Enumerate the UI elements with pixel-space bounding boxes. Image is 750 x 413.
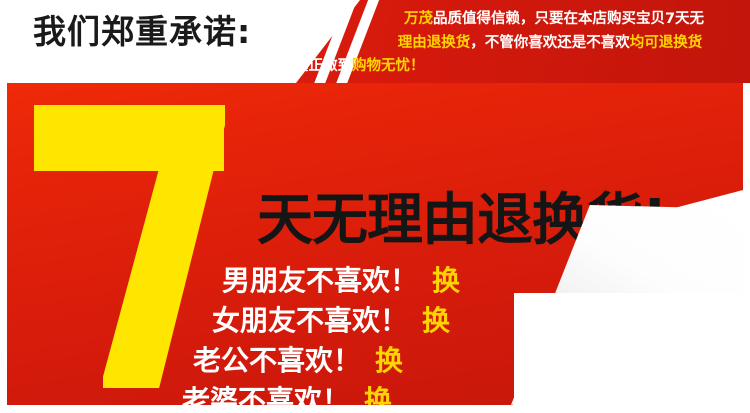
- blurb-line-3-text: 真正做到: [294, 58, 352, 74]
- blurb-line-2: 理由退换货，不管你喜欢还是不喜欢均可退换货: [356, 32, 744, 56]
- banner-header: 我们郑重承诺: 万茂品质值得信赖，只要在本店购买宝贝7天无 理由退换货，不管你喜…: [0, 0, 750, 83]
- page-curl-base: [514, 293, 750, 413]
- reason-text: 女朋友不喜欢！: [212, 304, 408, 337]
- promise-blurb: 万茂品质值得信赖，只要在本店购买宝贝7天无 理由退换货，不管你喜欢还是不喜欢均可…: [364, 8, 744, 79]
- reason-text: 男朋友不喜欢！: [222, 264, 418, 297]
- reason-text: 老婆不喜欢！: [182, 384, 350, 405]
- reason-action: 换: [364, 384, 392, 405]
- brand-name: 万茂: [404, 11, 433, 27]
- blurb-line-2-text: ，不管你喜欢还是不喜欢: [470, 35, 630, 51]
- promo-banner: 我们郑重承诺: 万茂品质值得信赖，只要在本店购买宝贝7天无 理由退换货，不管你喜…: [0, 0, 750, 413]
- reason-text: 老公不喜欢！: [193, 344, 361, 377]
- blurb-line-1-text: 品质值得信赖，只要在本店购买宝贝7天无: [433, 11, 704, 27]
- blurb-line-3: 真正做到购物无忧！: [294, 55, 744, 79]
- promise-title: 我们郑重承诺:: [33, 12, 251, 52]
- reason-action: 换: [432, 264, 460, 297]
- blurb-line-3-gold: 购物无忧！: [352, 58, 425, 74]
- blurb-line-2-gold-2: 均可退换货: [630, 35, 703, 51]
- reason-action: 换: [375, 344, 403, 377]
- blurb-line-1: 万茂品质值得信赖，只要在本店购买宝贝7天无: [364, 8, 744, 32]
- reason-action: 换: [422, 304, 450, 337]
- blurb-line-2-gold: 理由退换货: [398, 35, 471, 51]
